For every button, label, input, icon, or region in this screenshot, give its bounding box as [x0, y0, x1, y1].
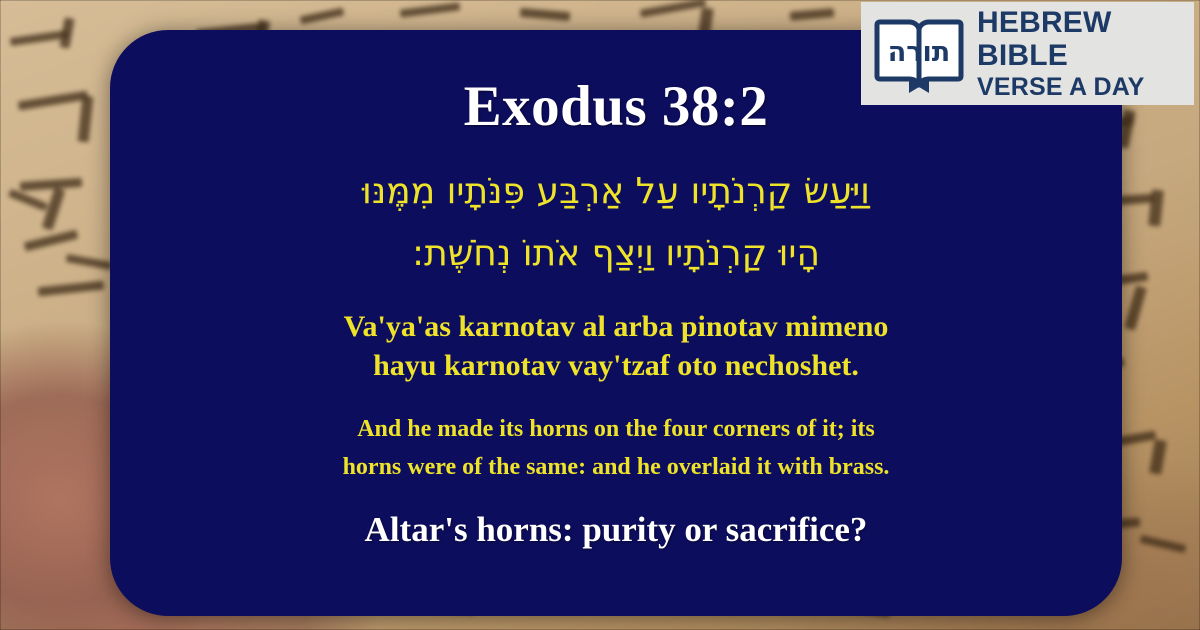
brand-wordmark: HEBREW BIBLE VERSE A DAY	[977, 8, 1145, 100]
translation-line-2: horns were of the same: and he overlaid …	[343, 449, 890, 487]
page-title: Exodus 38:2	[464, 78, 769, 135]
transliteration-text: Va'ya'as karnotav al arba pinotav mimeno…	[344, 307, 889, 385]
hebrew-verse-text: וַיַּעַשׂ קַרְנֹתָיו עַל אַרְבַּע פִּנֹּ…	[144, 161, 1088, 285]
brand-line-2: BIBLE	[977, 41, 1145, 71]
translation-line-1: And he made its horns on the four corner…	[343, 411, 890, 449]
verse-card: Exodus 38:2 וַיַּעַשׂ קַרְנֹתָיו עַל אַר…	[110, 30, 1122, 616]
open-book-icon: תורה	[871, 11, 967, 97]
brand-line-1: HEBREW	[977, 8, 1145, 38]
torah-word: תורה	[888, 37, 951, 68]
reflection-question: Altar's horns: purity or sacrifice?	[365, 511, 868, 550]
brand-logo: תורה HEBREW BIBLE VERSE A DAY	[861, 2, 1194, 105]
hebrew-line-2: הָיוּ קַרְנֹתָיו וַיְצַף אֹתוֹ נְחֹשֶׁת:	[144, 223, 1088, 285]
verse-graphic: Exodus 38:2 וַיַּעַשׂ קַרְנֹתָיו עַל אַר…	[0, 0, 1200, 630]
transliteration-line-1: Va'ya'as karnotav al arba pinotav mimeno	[344, 307, 889, 346]
english-translation-text: And he made its horns on the four corner…	[343, 411, 890, 487]
brand-line-3: VERSE A DAY	[977, 75, 1145, 100]
hebrew-line-1: וַיַּעַשׂ קַרְנֹתָיו עַל אַרְבַּע פִּנֹּ…	[144, 161, 1088, 223]
transliteration-line-2: hayu karnotav vay'tzaf oto nechoshet.	[344, 346, 889, 385]
